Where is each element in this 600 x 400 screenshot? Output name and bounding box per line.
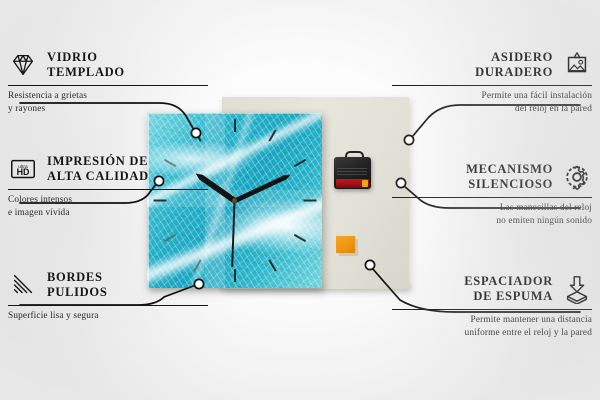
feature-header: ultra HD IMPRESIÓN DE ALTA CALIDAD <box>8 152 208 186</box>
feature-divider <box>392 197 592 198</box>
mechanism-label <box>337 168 367 177</box>
feature-espaciador-de-espuma[interactable]: ESPACIADOR DE ESPUMA Permite mantener un… <box>392 272 592 339</box>
feature-mecanismo-silencioso[interactable]: MECANISMO SILENCIOSO Las manecillas del … <box>392 160 592 227</box>
ultra-hd-icon: ultra HD <box>8 154 38 184</box>
feature-divider <box>8 189 208 190</box>
feature-impresion-alta-calidad[interactable]: ultra HD IMPRESIÓN DE ALTA CALIDAD Color… <box>8 152 208 219</box>
feature-header: ASIDERO DURADERO <box>392 48 592 82</box>
feature-header: MECANISMO SILENCIOSO <box>392 160 592 194</box>
feature-description: Permite una fácil instalación del reloj … <box>392 90 592 115</box>
mechanism-body <box>334 157 371 189</box>
feature-title: ESPACIADOR DE ESPUMA <box>464 274 553 304</box>
picture-hanger-icon <box>562 50 592 80</box>
feature-title: VIDRIO TEMPLADO <box>47 50 125 80</box>
feature-bordes-pulidos[interactable]: BORDES PULIDOS Superficie lisa y segura <box>8 268 208 323</box>
infographic-canvas: VIDRIO TEMPLADO Resistencia a grietas y … <box>0 0 600 400</box>
feature-divider <box>8 305 208 306</box>
feature-description: Superficie lisa y segura <box>8 310 208 322</box>
feature-title: BORDES PULIDOS <box>47 270 107 300</box>
feature-header: VIDRIO TEMPLADO <box>8 48 208 82</box>
feature-divider <box>392 85 592 86</box>
feature-description: Permite mantener una distancia uniforme … <box>392 314 592 339</box>
foam-spacer-icon <box>562 274 592 304</box>
feature-title: MECANISMO SILENCIOSO <box>466 162 553 192</box>
feature-header: ESPACIADOR DE ESPUMA <box>392 272 592 306</box>
svg-text:HD: HD <box>17 167 30 177</box>
feature-description: Resistencia a grietas y rayones <box>8 90 208 115</box>
feature-vidrio-templado[interactable]: VIDRIO TEMPLADO Resistencia a grietas y … <box>8 48 208 115</box>
feature-divider <box>392 309 592 310</box>
foam-spacer <box>336 236 355 253</box>
battery <box>336 179 369 188</box>
diamond-icon <box>8 50 38 80</box>
feature-title: ASIDERO DURADERO <box>475 50 553 80</box>
feature-asidero-duradero[interactable]: ASIDERO DURADERO Permite una fácil insta… <box>392 48 592 115</box>
feature-divider <box>8 85 208 86</box>
feature-description: Las manecillas del reloj no emiten ningú… <box>392 202 592 227</box>
feature-title: IMPRESIÓN DE ALTA CALIDAD <box>47 154 149 184</box>
polished-edges-icon <box>8 270 38 300</box>
feature-description: Colores intensos e imagen vívida <box>8 194 208 219</box>
clock-mechanism <box>334 151 371 189</box>
gear-icon <box>562 162 592 192</box>
feature-header: BORDES PULIDOS <box>8 268 208 302</box>
